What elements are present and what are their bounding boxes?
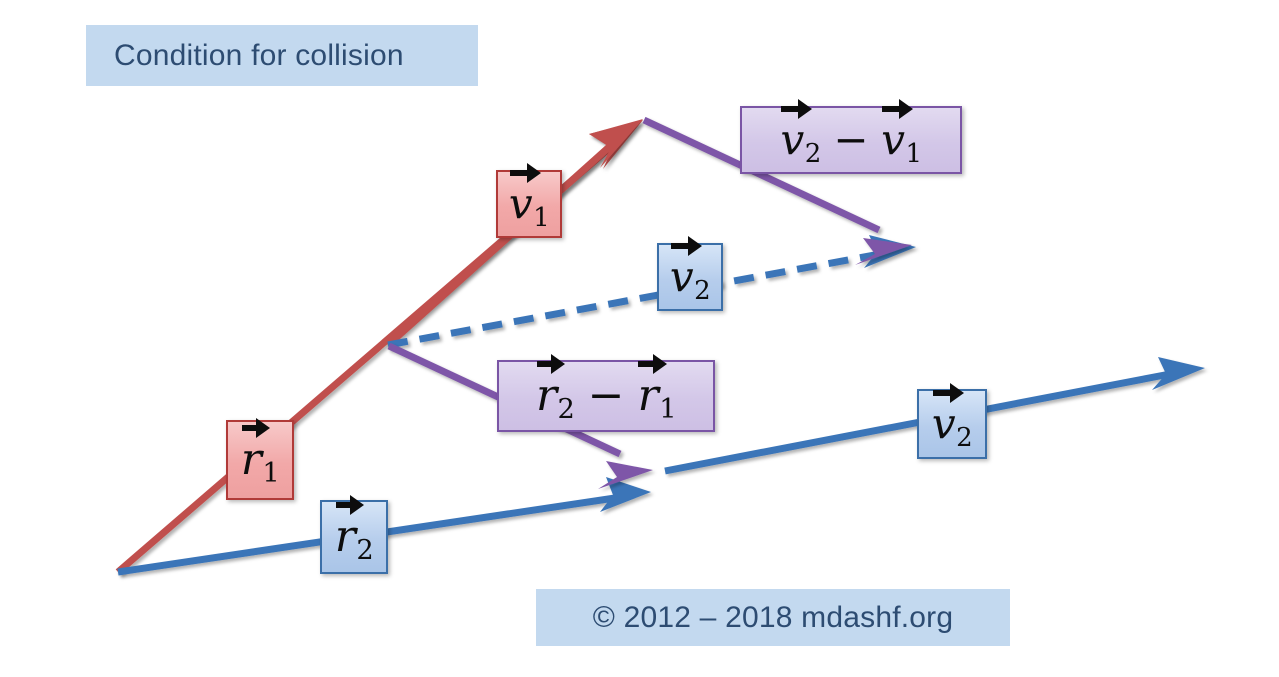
label-v2-dashed: v2 [657,243,723,311]
footer-banner: © 2012 – 2018 mdashf.org [536,589,1010,646]
page-title: Condition for collision [114,39,404,73]
vector-arrow-icon [537,361,558,367]
subscript: 2 [356,537,373,564]
subscript: 2 [694,278,711,304]
vector-symbol: v [932,403,956,445]
math-expression-v2-dashed: v2 [670,256,710,298]
label-v1: v1 [496,170,562,238]
label-r1: r1 [226,420,294,500]
minus-operator: − [574,374,637,418]
vector-symbol-left: v [781,119,805,161]
vector-arrow-icon [671,243,695,248]
subscript: 1 [262,460,279,487]
vector-diagram [0,0,1279,677]
vector-arrow-icon [336,502,357,508]
vector-arrow-icon [242,425,263,431]
vector-arrow-icon [933,390,957,395]
subscript: 2 [956,425,973,451]
label-v2-minus-v1: v2−v1 [740,106,962,174]
vector-symbol-right: r [638,374,659,418]
minus-operator: − [821,119,881,161]
vector-arrow-icon [882,106,906,111]
subscript-left: 2 [805,141,822,167]
subscript-left: 2 [558,396,575,423]
label-r2-minus-r1: r2−r1 [497,360,715,432]
subscript-right: 1 [659,396,676,423]
vector-symbol: r [335,515,356,559]
label-v2-solid: v2 [917,389,987,459]
vector-arrow-icon [638,361,659,367]
vector-symbol: v [509,183,533,225]
label-r2: r2 [320,500,388,574]
slide-canvas: Condition for collision v1 v2 v2 r1 r2 v… [0,0,1279,677]
math-expression-r1: r1 [241,438,279,482]
math-expression-v2-minus-v1: v2−v1 [781,119,922,161]
vector-symbol: v [670,256,694,298]
vector-symbol: r [241,438,262,482]
math-expression-v2-solid: v2 [932,403,972,445]
vector-symbol-right: v [881,119,905,161]
math-expression-v1: v1 [509,183,549,225]
vector-arrow-icon [781,106,805,111]
subscript-right: 1 [905,141,922,167]
vector-arrow-icon [510,170,534,175]
math-expression-r2-minus-r1: r2−r1 [536,374,676,418]
vector-symbol-left: r [536,374,557,418]
math-expression-r2: r2 [335,515,373,559]
copyright-text: © 2012 – 2018 mdashf.org [593,601,953,635]
v2-dashed-arrow [388,235,916,345]
subscript: 1 [533,205,550,231]
title-banner: Condition for collision [86,25,478,86]
